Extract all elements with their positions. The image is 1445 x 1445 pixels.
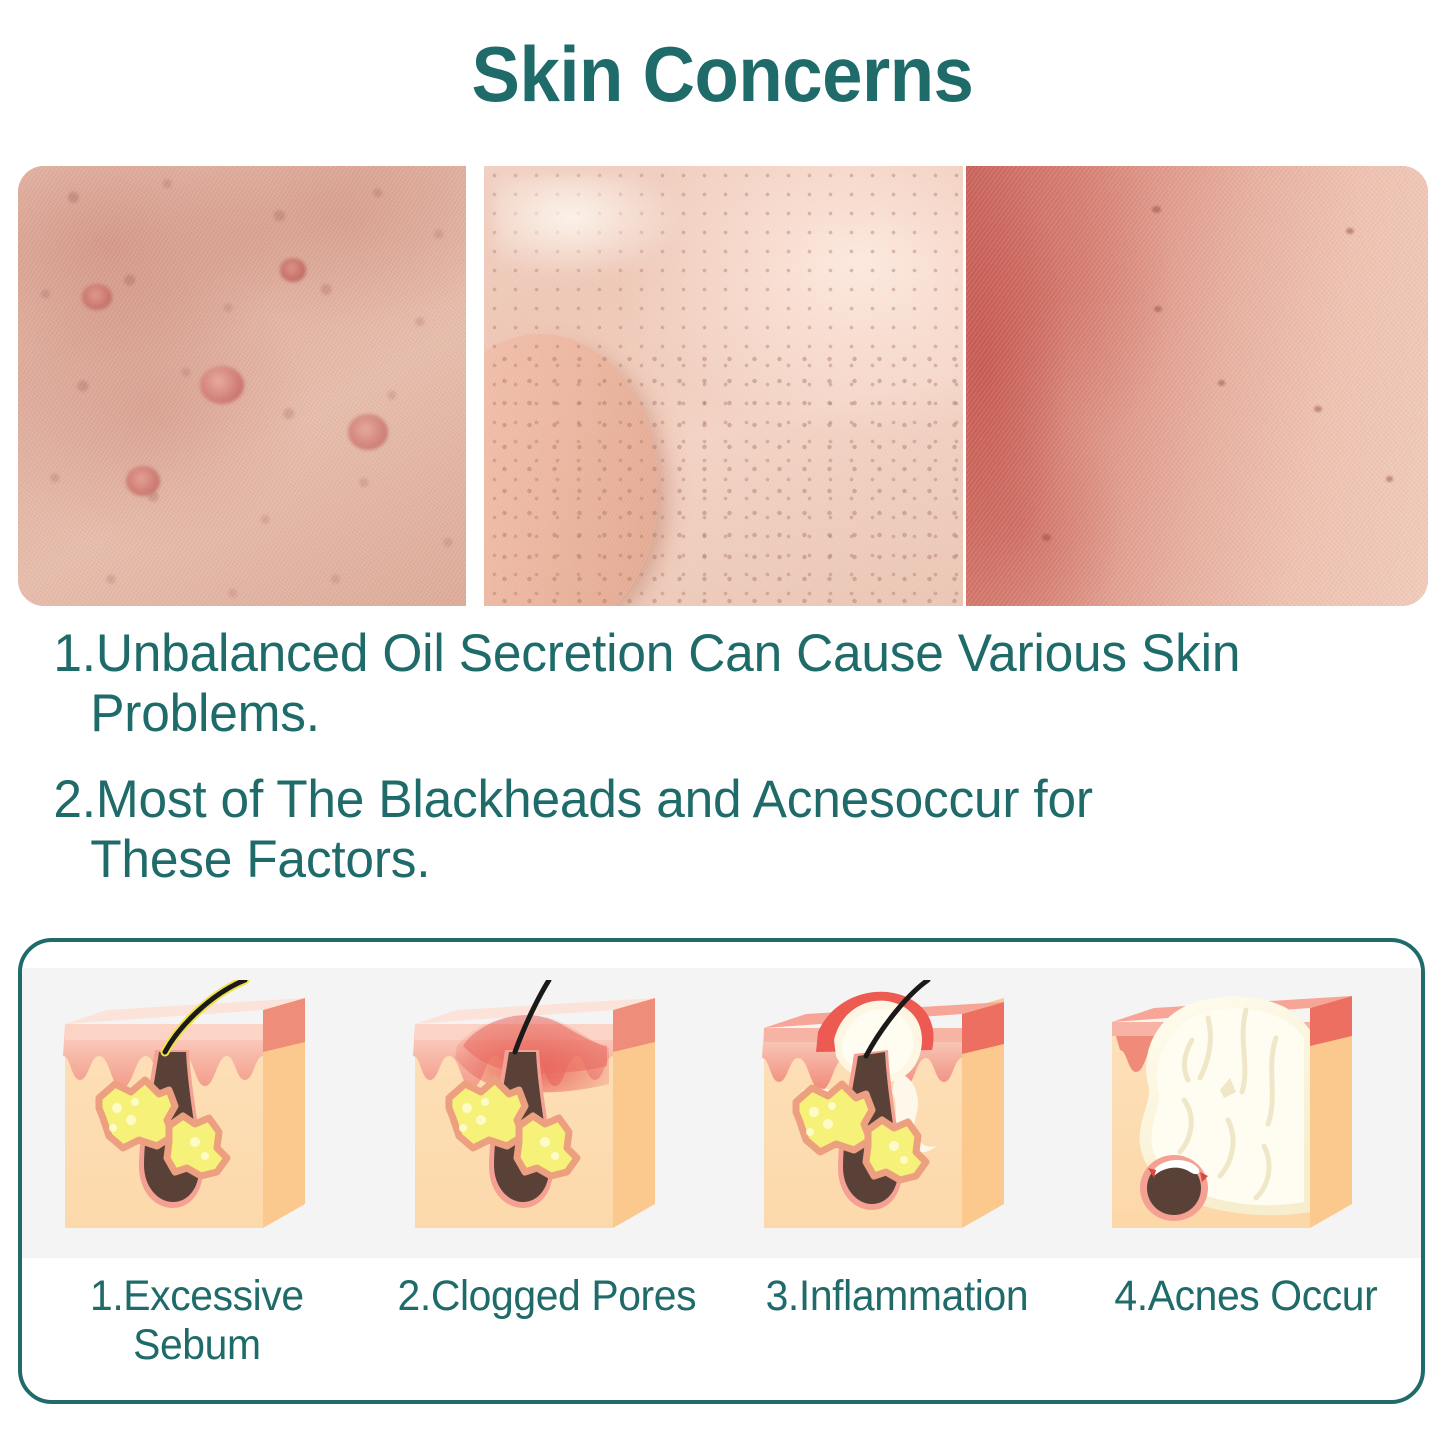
skin-spot <box>1386 476 1393 482</box>
skin-concern-bullet-list: 1.Unbalanced Oil Secretion Can Cause Var… <box>0 624 1445 890</box>
pimple-lesion <box>200 366 244 404</box>
skin-spot <box>1152 206 1161 213</box>
stage-label-2: 2.Clogged Pores <box>380 1272 712 1370</box>
bullet-item-2: 2.Most of The Blackheads and Acnesoccur … <box>0 770 1402 890</box>
stage-2-illustration <box>372 968 722 1268</box>
stage-label-row: 1.Excessive Sebum 2.Clogged Pores 3.Infl… <box>22 1272 1421 1370</box>
stage-illustration-row <box>22 968 1421 1268</box>
enlarged-pores-photo <box>484 166 963 606</box>
stage-3-illustration <box>722 968 1072 1268</box>
bullet-1-line-1: 1.Unbalanced Oil Secretion Can Cause Var… <box>53 624 1240 683</box>
skin-cross-section-inflammation-icon <box>746 980 1046 1258</box>
bullet-2-line-1: 2.Most of The Blackheads and Acnesoccur … <box>53 770 1092 829</box>
pimple-lesion <box>126 466 160 496</box>
skin-spot <box>1154 306 1162 312</box>
pimple-lesion <box>348 414 388 450</box>
skin-spot <box>1042 534 1051 541</box>
skin-spot <box>1314 406 1322 412</box>
pimple-lesion <box>82 284 112 310</box>
stage-4-illustration <box>1071 968 1421 1268</box>
pimple-lesion <box>280 258 306 282</box>
skin-cross-section-acne-icon <box>1096 980 1396 1258</box>
page-title: Skin Concerns <box>51 34 1395 116</box>
skin-spot <box>1346 228 1354 234</box>
stage-label-1: 1.Excessive Sebum <box>31 1272 363 1370</box>
acne-formation-stages-panel: 1.Excessive Sebum 2.Clogged Pores 3.Infl… <box>18 938 1425 1404</box>
acne-breakout-photo <box>18 166 466 606</box>
skin-cross-section-clogged-icon <box>397 980 697 1258</box>
photo-divider <box>466 166 484 606</box>
stage-label-4: 4.Acnes Occur <box>1080 1272 1412 1370</box>
bullet-item-1: 1.Unbalanced Oil Secretion Can Cause Var… <box>0 624 1402 744</box>
photo-grain-layer <box>484 166 963 606</box>
skin-cross-section-sebum-icon <box>47 980 347 1258</box>
stage-1-illustration <box>22 968 372 1268</box>
stage-label-3: 3.Inflammation <box>730 1272 1062 1370</box>
photo-grain-layer <box>966 166 1428 606</box>
bullet-1-line-2: Problems. <box>53 684 1382 744</box>
bullet-2-line-2: These Factors. <box>53 830 1382 890</box>
skin-redness-photo <box>966 166 1428 606</box>
skin-spot <box>1218 380 1225 386</box>
skin-concern-photo-strip <box>18 166 1428 606</box>
